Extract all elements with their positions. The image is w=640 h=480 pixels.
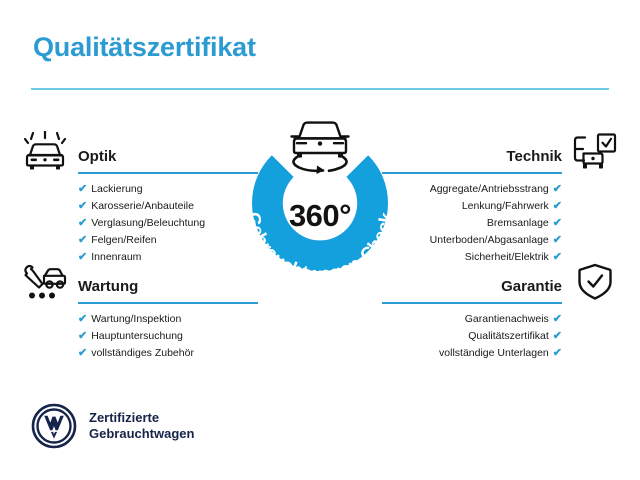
checklist-wartung: ✔Wartung/Inspektion ✔Hauptuntersuchung ✔… — [22, 304, 258, 362]
check-icon: ✔ — [553, 313, 562, 325]
logo-caption-line1: Zertifizierte — [89, 410, 194, 426]
section-header: Wartung — [22, 260, 258, 304]
vw-logo-lockup: Zertifizierte Gebrauchtwagen — [31, 403, 194, 449]
list-item-label: Verglasung/Beleuchtung — [91, 217, 205, 229]
badge-center-label: 360° — [225, 198, 415, 234]
list-item: Garantienachweis✔ — [382, 311, 562, 328]
list-item-label: Lenkung/Fahrwerk — [462, 200, 549, 212]
checklist-garantie: Garantienachweis✔ Qualitätszertifikat✔ v… — [382, 304, 618, 362]
section-header: Technik — [382, 130, 618, 174]
section-garantie: Garantie Garantienachweis✔ Qualitätszert… — [382, 260, 618, 362]
logo-caption: Zertifizierte Gebrauchtwagen — [89, 410, 194, 442]
section-title: Garantie — [501, 278, 562, 295]
title-divider — [31, 88, 609, 90]
check-icon: ✔ — [553, 200, 562, 212]
list-item-label: vollständige Unterlagen — [439, 347, 549, 359]
section-title: Wartung — [78, 278, 138, 295]
section-header: Garantie — [382, 260, 618, 304]
list-item: ✔Wartung/Inspektion — [78, 311, 258, 328]
car-shine-icon — [22, 131, 68, 173]
list-item: ✔Hauptuntersuchung — [78, 328, 258, 345]
page-title: Qualitätszertifikat — [33, 32, 256, 63]
list-item-label: Aggregate/Antriebsstrang — [430, 183, 549, 195]
list-item-label: Qualitätszertifikat — [468, 330, 549, 342]
section-header: Optik — [22, 130, 258, 174]
list-item-label: Felgen/Reifen — [91, 234, 156, 246]
car-lift-check-icon — [572, 131, 618, 173]
car-rotate-icon — [283, 114, 357, 176]
list-item: ✔vollständiges Zubehör — [78, 345, 258, 362]
list-item-label: Wartung/Inspektion — [91, 313, 181, 325]
list-item-label: Karosserie/Anbauteile — [91, 200, 194, 212]
section-optik: Optik ✔Lackierung ✔Karosserie/Anbauteile… — [22, 130, 258, 266]
section-divider — [382, 302, 562, 304]
wrench-car-icon — [22, 261, 68, 303]
check-icon: ✔ — [553, 330, 562, 342]
list-item-label: Lackierung — [91, 183, 142, 195]
vw-roundel-icon — [31, 403, 77, 449]
list-item: Qualitätszertifikat✔ — [382, 328, 562, 345]
list-item-label: Hauptuntersuchung — [91, 330, 183, 342]
list-item-label: Unterboden/Abgasanlage — [430, 234, 549, 246]
check-icon: ✔ — [553, 347, 562, 359]
section-title: Optik — [78, 148, 116, 165]
check-icon: ✔ — [78, 200, 87, 212]
checklist-technik: Aggregate/Antriebsstrang✔ Lenkung/Fahrwe… — [382, 174, 618, 266]
logo-caption-line2: Gebrauchtwagen — [89, 426, 194, 442]
list-item: vollständige Unterlagen✔ — [382, 345, 562, 362]
vw-monogram — [44, 416, 64, 439]
list-item-label: vollständiges Zubehör — [91, 347, 194, 359]
section-divider — [78, 302, 258, 304]
check-icon: ✔ — [78, 217, 87, 229]
check-icon: ✔ — [553, 183, 562, 195]
check-icon: ✔ — [78, 234, 87, 246]
section-title: Technik — [506, 148, 562, 165]
check-icon: ✔ — [78, 313, 87, 325]
shield-check-icon — [572, 261, 618, 303]
check-icon: ✔ — [553, 217, 562, 229]
checklist-optik: ✔Lackierung ✔Karosserie/Anbauteile ✔Verg… — [22, 174, 258, 266]
gebrauchtwagen-check-badge: Gebrauchtwagen-Check 360° — [225, 112, 415, 302]
section-wartung: Wartung ✔Wartung/Inspektion ✔Hauptunters… — [22, 260, 258, 362]
list-item-label: Garantienachweis — [465, 313, 549, 325]
section-technik: Technik Aggregate/Antriebsstrang✔ Lenkun… — [382, 130, 618, 266]
check-icon: ✔ — [553, 234, 562, 246]
check-icon: ✔ — [78, 183, 87, 195]
check-icon: ✔ — [78, 347, 87, 359]
list-item-label: Bremsanlage — [487, 217, 549, 229]
check-icon: ✔ — [78, 330, 87, 342]
rotate-arrow-head — [317, 166, 325, 175]
